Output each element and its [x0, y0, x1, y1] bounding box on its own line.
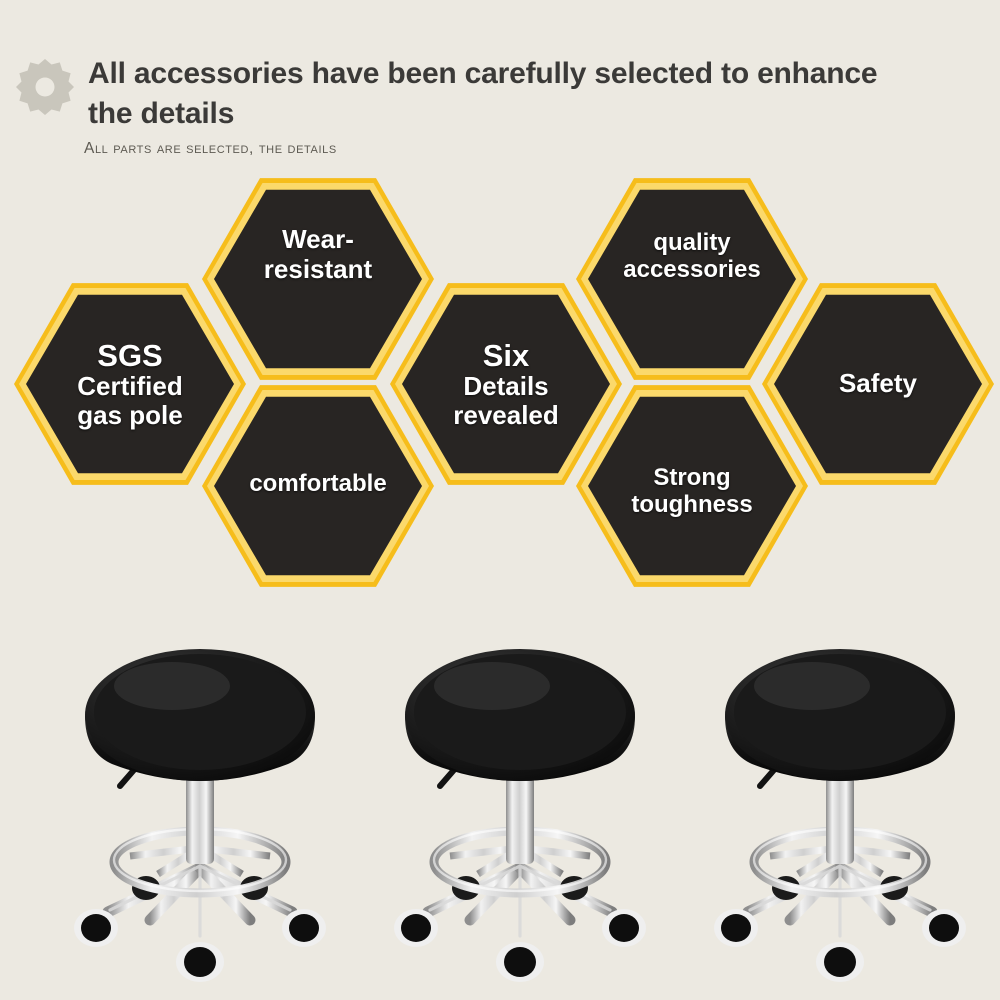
product-image-row — [0, 600, 1000, 1000]
hex-label-secondary: Certified gas pole — [77, 372, 182, 429]
hex-cell-safety[interactable]: Safety — [762, 280, 994, 488]
hex-cell-six-details-revealed[interactable]: Six Details revealed — [390, 280, 622, 488]
hex-label-primary: Safety — [839, 369, 917, 399]
feature-honeycomb: SGS Certified gas pole Wear- resistant c… — [0, 170, 1000, 600]
hex-label-primary: Strong toughness — [631, 464, 752, 519]
hex-label-primary: Six — [483, 339, 530, 372]
hex-cell-sgs[interactable]: SGS Certified gas pole — [14, 280, 246, 488]
hex-inner: SGS Certified gas pole — [26, 292, 234, 476]
header-section: All accessories have been carefully sele… — [0, 0, 1000, 175]
hex-label-primary: Wear- resistant — [264, 225, 372, 284]
infographic-page: All accessories have been carefully sele… — [0, 0, 1000, 1000]
hex-inner: comfortable — [214, 394, 422, 578]
product-stool-image — [690, 620, 990, 1000]
hex-inner: Wear- resistant — [214, 187, 422, 371]
hex-cell-quality-accessories[interactable]: quality accessories — [576, 175, 808, 383]
gear-icon — [14, 56, 76, 118]
product-stool-image — [50, 620, 350, 1000]
hex-inner: Six Details revealed — [402, 292, 610, 476]
hex-inner: Strong toughness — [588, 394, 796, 578]
hex-label-primary: quality accessories — [623, 229, 760, 284]
page-title: All accessories have been carefully sele… — [88, 54, 888, 134]
hex-cell-comfortable[interactable]: comfortable — [202, 382, 434, 590]
hex-cell-wear-resistant[interactable]: Wear- resistant — [202, 175, 434, 383]
hex-label-secondary: Details revealed — [453, 372, 559, 429]
hex-label-primary: SGS — [97, 339, 162, 372]
hex-cell-strong-toughness[interactable]: Strong toughness — [576, 382, 808, 590]
hex-inner: quality accessories — [588, 187, 796, 371]
hex-inner: Safety — [774, 292, 982, 476]
product-stool-image — [370, 620, 670, 1000]
hex-label-primary: comfortable — [249, 470, 386, 497]
page-subtitle: All parts are selected, the details — [84, 140, 684, 158]
